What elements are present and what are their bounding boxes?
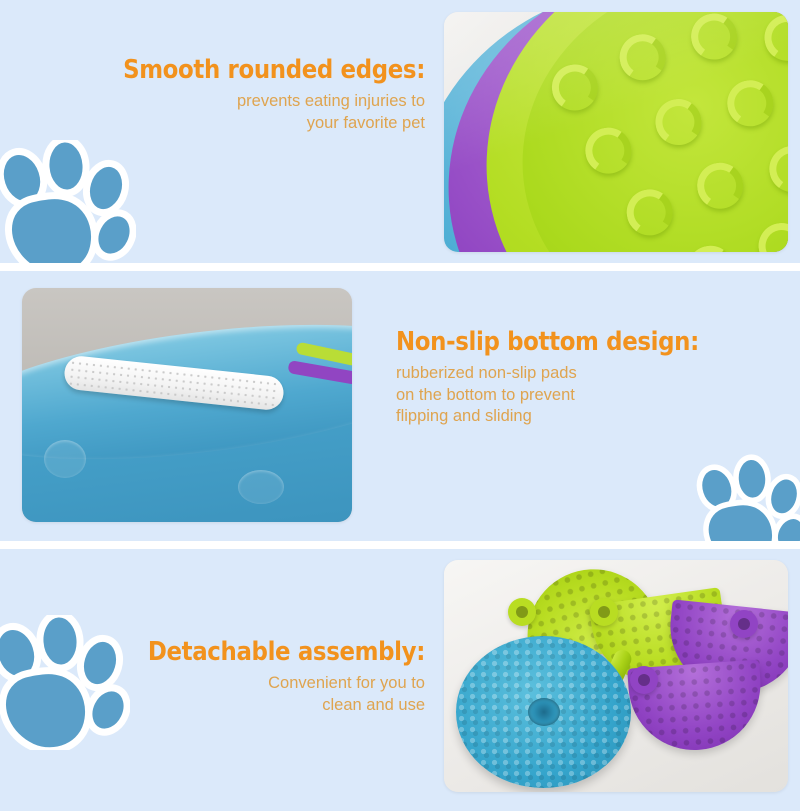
product-feature-infographic: Smooth rounded edges: prevents eating in… (0, 0, 800, 811)
feature-subtext-line: Convenient for you to (80, 673, 425, 694)
feature-text-non-slip-bottom-design: Non-slip bottom design: rubberized non-s… (396, 328, 788, 427)
feature-subtext: rubberized non-slip pads on the bottom t… (396, 363, 788, 427)
feature-heading: Smooth rounded edges: (77, 56, 425, 84)
feature-text-smooth-rounded-edges: Smooth rounded edges: prevents eating in… (30, 56, 425, 134)
feature-heading: Non-slip bottom design: (396, 328, 741, 356)
paw-print-icon (0, 140, 136, 263)
feature-subtext: Convenient for you to clean and use (80, 673, 425, 716)
feature-subtext: prevents eating injuries to your favorit… (30, 91, 425, 134)
feature-text-detachable-assembly: Detachable assembly: Convenient for you … (80, 638, 425, 716)
feature-photo-smooth-rounded-edges (444, 12, 788, 252)
paw-print-icon (688, 453, 800, 541)
feature-photo-detachable-assembly (444, 560, 788, 792)
feature-panel-detachable-assembly: Detachable assembly: Convenient for you … (0, 549, 800, 811)
feature-heading: Detachable assembly: (121, 638, 425, 666)
feature-subtext-line: rubberized non-slip pads (396, 363, 788, 384)
feature-subtext-line: flipping and sliding (396, 406, 788, 427)
feature-photo-non-slip-bottom-design (22, 288, 352, 522)
feature-subtext-line: clean and use (80, 695, 425, 716)
feature-subtext-line: your favorite pet (30, 113, 425, 134)
feature-panel-non-slip-bottom-design: Non-slip bottom design: rubberized non-s… (0, 271, 800, 541)
feature-panel-smooth-rounded-edges: Smooth rounded edges: prevents eating in… (0, 0, 800, 263)
feature-subtext-line: prevents eating injuries to (30, 91, 425, 112)
feature-subtext-line: on the bottom to prevent (396, 385, 788, 406)
